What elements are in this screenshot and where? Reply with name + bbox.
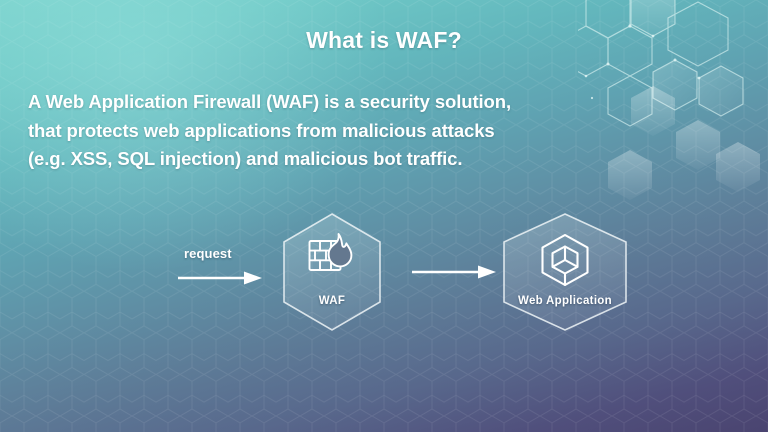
body-line-3: (e.g. XSS, SQL injection) and malicious …: [28, 145, 568, 174]
request-arrow-label: request: [184, 246, 232, 261]
body-line-2: that protects web applications from mali…: [28, 117, 568, 146]
waf-hexagon-shape: [280, 212, 384, 332]
web-application-hexagon-shape: [500, 212, 630, 332]
slide-title: What is WAF?: [0, 27, 768, 54]
node-web-application[interactable]: Web Application: [500, 212, 630, 337]
arrow-waf-to-app: [412, 264, 498, 280]
node-web-application-label: Web Application: [500, 295, 630, 307]
node-waf[interactable]: WAF: [280, 212, 384, 337]
slide-canvas: What is WAF? A Web Application Firewall …: [0, 0, 768, 432]
node-waf-label: WAF: [280, 295, 384, 307]
flow-diagram: request: [0, 198, 768, 348]
arrow-request-to-waf: [178, 270, 264, 286]
slide-body: A Web Application Firewall (WAF) is a se…: [28, 88, 568, 174]
body-line-1: A Web Application Firewall (WAF) is a se…: [28, 88, 568, 117]
